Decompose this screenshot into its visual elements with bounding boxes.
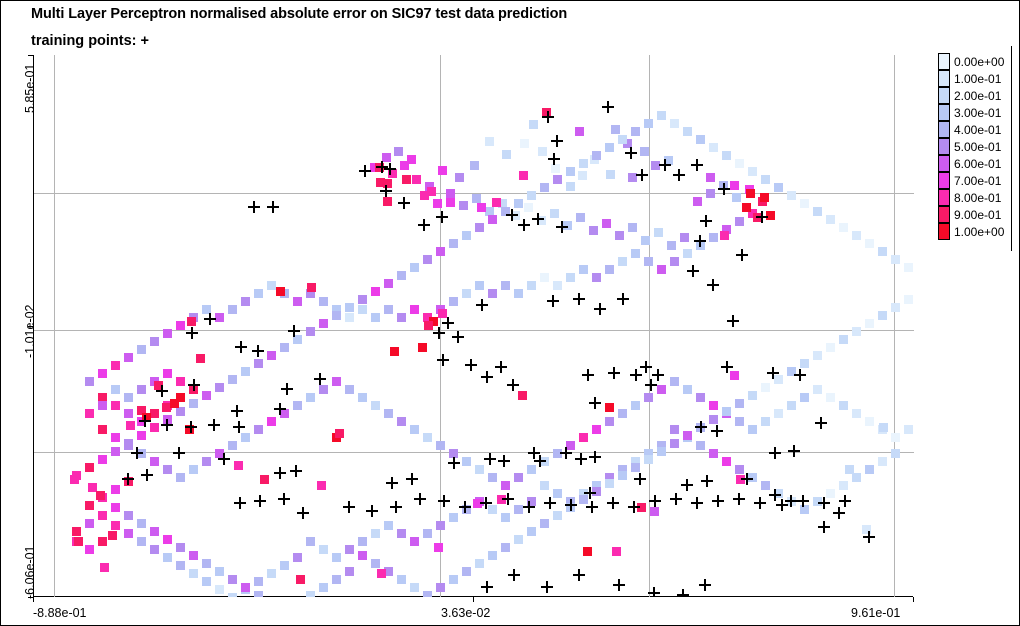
training-point-marker: [248, 201, 260, 213]
data-point-marker: [683, 385, 692, 394]
training-point-marker: [617, 293, 629, 305]
data-point-marker: [98, 401, 107, 410]
data-point-marker: [319, 319, 328, 328]
data-point-marker: [306, 393, 315, 402]
data-point-marker: [202, 559, 211, 568]
data-point-marker: [254, 359, 263, 368]
data-point-marker: [550, 209, 559, 218]
data-point-marker: [384, 305, 393, 314]
training-point-marker: [528, 447, 540, 459]
data-point-marker: [735, 399, 744, 408]
data-point-marker: [418, 343, 427, 352]
data-point-marker: [423, 591, 432, 597]
training-point-marker: [634, 473, 646, 485]
data-point-marker: [85, 377, 94, 386]
data-point-marker: [410, 537, 419, 546]
training-point-marker: [290, 465, 302, 477]
data-point-marker: [670, 439, 679, 448]
data-point-marker: [410, 305, 419, 314]
data-point-marker: [605, 479, 614, 488]
data-point-marker: [650, 507, 659, 516]
data-point-marker: [706, 173, 715, 182]
data-point-marker: [657, 385, 666, 394]
data-point-marker: [424, 321, 433, 330]
data-point-marker: [202, 391, 211, 400]
data-point-marker: [670, 119, 679, 128]
data-point-marker: [514, 535, 523, 544]
legend-label-5: 5.00e-01: [954, 140, 1001, 154]
data-point-marker: [470, 161, 479, 170]
training-point-marker: [707, 279, 719, 291]
training-point-marker: [649, 495, 661, 507]
data-point-marker: [306, 537, 315, 546]
data-point-marker: [527, 281, 536, 290]
data-point-marker: [839, 335, 848, 344]
data-point-marker: [488, 551, 497, 560]
data-point-marker: [276, 287, 285, 296]
data-point-marker: [371, 401, 380, 410]
training-point-marker: [573, 293, 585, 305]
training-point-marker: [594, 303, 606, 315]
data-point-marker: [722, 457, 731, 466]
training-point-marker: [384, 163, 396, 175]
chart-page: Multi Layer Perceptron normalised absolu…: [0, 0, 1020, 626]
data-point-marker: [578, 171, 587, 180]
data-point-marker: [852, 409, 861, 418]
data-point-marker: [709, 401, 718, 410]
data-point-marker: [384, 409, 393, 418]
data-point-marker: [730, 181, 739, 190]
training-point-marker: [733, 493, 745, 505]
training-point-marker: [218, 453, 230, 465]
data-point-marker: [589, 226, 598, 235]
training-point-marker: [366, 505, 378, 517]
data-point-marker: [423, 529, 432, 538]
data-point-marker: [397, 529, 406, 538]
y-axis-label-2: -6.06e-01: [23, 545, 37, 599]
training-point-marker: [691, 497, 703, 509]
data-point-marker: [176, 473, 185, 482]
training-point-marker: [573, 569, 585, 581]
data-point-marker: [436, 583, 445, 592]
training-point-marker: [582, 369, 594, 381]
data-point-marker: [514, 505, 523, 514]
data-point-marker: [358, 537, 367, 546]
data-point-marker: [124, 511, 133, 520]
training-point-marker: [711, 425, 723, 437]
training-point-marker: [508, 569, 520, 581]
data-point-marker: [501, 281, 510, 290]
training-point-marker: [161, 419, 173, 431]
data-point-marker: [459, 201, 468, 210]
training-point-marker: [677, 589, 689, 597]
legend-label-2: 2.00e-01: [954, 89, 1001, 103]
training-point-marker: [481, 371, 493, 383]
data-point-marker: [787, 191, 796, 200]
data-point-marker: [371, 559, 380, 568]
data-point-marker: [488, 289, 497, 298]
data-point-marker: [644, 119, 653, 128]
data-point-marker: [384, 521, 393, 530]
plot-area: [34, 55, 914, 597]
data-point-marker: [514, 289, 523, 298]
training-point-marker: [476, 299, 488, 311]
data-point-marker: [472, 194, 481, 203]
data-point-marker: [241, 433, 250, 442]
training-point-marker: [721, 361, 733, 373]
data-point-marker: [423, 255, 432, 264]
data-point-marker: [865, 319, 874, 328]
legend-swatch-4: [938, 121, 950, 138]
data-point-marker: [436, 521, 445, 530]
data-point-marker: [748, 391, 757, 400]
data-point-marker: [654, 228, 663, 237]
data-point-marker: [163, 329, 172, 338]
data-point-marker: [826, 393, 835, 402]
training-point-marker: [465, 359, 477, 371]
data-point-marker: [384, 279, 393, 288]
data-point-marker: [644, 455, 653, 464]
training-point-marker: [736, 249, 748, 261]
training-point-marker: [613, 579, 625, 591]
training-point-marker: [506, 209, 518, 221]
training-point-marker: [414, 493, 426, 505]
legend-label-6: 6.00e-01: [954, 157, 1001, 171]
data-point-marker: [631, 463, 640, 472]
data-point-marker: [98, 455, 107, 464]
data-point-marker: [436, 441, 445, 450]
training-point-marker: [788, 445, 800, 457]
training-point-marker: [288, 325, 300, 337]
data-point-marker: [640, 147, 649, 156]
data-point-marker: [488, 215, 497, 224]
data-point-marker: [540, 481, 549, 490]
data-point-marker: [839, 223, 848, 232]
gridline-horizontal-2: [34, 452, 914, 453]
data-point-marker: [693, 197, 702, 206]
training-point-marker: [701, 475, 713, 487]
data-point-marker: [592, 151, 601, 160]
legend-swatch-9: [938, 206, 950, 223]
training-point-marker: [267, 201, 279, 213]
training-point-marker: [681, 479, 693, 491]
training-point-marker: [231, 405, 243, 417]
training-point-marker: [185, 421, 197, 433]
training-point-marker: [186, 327, 198, 339]
data-point-marker: [176, 543, 185, 552]
training-point-marker: [380, 185, 392, 197]
data-point-marker: [126, 421, 135, 430]
data-point-marker: [551, 164, 560, 173]
training-point-marker: [700, 215, 712, 227]
legend-label-7: 7.00e-01: [954, 174, 1001, 188]
legend-label-1: 1.00e-01: [954, 72, 1001, 86]
data-point-marker: [538, 147, 547, 156]
training-point-marker: [544, 497, 556, 509]
data-point-marker: [438, 166, 447, 175]
data-point-marker: [579, 265, 588, 274]
training-point-marker: [548, 153, 560, 165]
data-point-marker: [683, 249, 692, 258]
data-point-marker: [377, 569, 386, 578]
data-point-marker: [189, 569, 198, 578]
data-point-marker: [150, 423, 159, 432]
data-point-marker: [735, 159, 744, 168]
data-point-marker: [319, 385, 328, 394]
data-point-marker: [98, 511, 107, 520]
data-point-marker: [254, 289, 263, 298]
training-point-marker: [235, 341, 247, 353]
data-point-marker: [446, 189, 455, 198]
data-point-marker: [540, 519, 549, 528]
x-axis-tick-2: [913, 597, 914, 602]
data-point-marker: [345, 567, 354, 576]
training-point-marker: [602, 101, 614, 113]
data-point-marker: [436, 247, 445, 256]
data-point-marker: [423, 433, 432, 442]
data-point-marker: [433, 199, 442, 208]
data-point-marker: [85, 501, 94, 510]
training-point-marker: [691, 159, 703, 171]
data-point-marker: [267, 417, 276, 426]
chart-title: Multi Layer Perceptron normalised absolu…: [31, 6, 567, 22]
data-point-marker: [878, 311, 887, 320]
training-point-marker: [484, 453, 496, 465]
data-point-marker: [202, 457, 211, 466]
data-point-marker: [891, 449, 900, 458]
training-point-marker: [628, 501, 640, 513]
data-point-marker: [449, 575, 458, 584]
training-point-marker: [418, 219, 430, 231]
data-point-marker: [852, 231, 861, 240]
data-point-marker: [228, 593, 237, 597]
data-point-marker: [631, 127, 640, 136]
data-point-marker: [358, 393, 367, 402]
training-point-marker: [839, 495, 851, 507]
legend-swatch-8: [938, 189, 950, 206]
data-point-marker: [475, 559, 484, 568]
data-point-marker: [540, 273, 549, 282]
data-point-marker: [519, 171, 528, 180]
data-point-marker: [579, 159, 588, 168]
data-point-marker: [529, 120, 538, 129]
legend-label-4: 4.00e-01: [954, 123, 1001, 137]
data-point-marker: [397, 271, 406, 280]
training-point-marker: [652, 369, 664, 381]
x-axis-label-0: -8.88e-01: [33, 606, 87, 620]
data-point-marker: [742, 203, 751, 212]
data-point-marker: [576, 213, 585, 222]
data-point-marker: [813, 351, 822, 360]
data-point-marker: [228, 375, 237, 384]
data-point-marker: [410, 263, 419, 272]
data-point-marker: [475, 223, 484, 232]
legend-swatch-10: [938, 223, 950, 240]
y-axis-tick-0: [28, 55, 33, 56]
legend-swatch-1: [938, 70, 950, 87]
legend-label-8: 8.00e-01: [954, 191, 1001, 205]
data-point-marker: [774, 409, 783, 418]
data-point-marker: [371, 529, 380, 538]
data-point-marker: [520, 139, 529, 148]
data-point-marker: [150, 527, 159, 536]
data-point-marker: [234, 461, 243, 470]
data-point-marker: [553, 175, 562, 184]
data-point-marker: [722, 407, 731, 416]
legend-label-3: 3.00e-01: [954, 106, 1001, 120]
data-point-marker: [462, 567, 471, 576]
data-point-marker: [427, 187, 436, 196]
data-point-marker: [241, 583, 250, 592]
data-point-marker: [390, 347, 399, 356]
data-point-marker: [176, 377, 185, 386]
training-point-marker: [659, 159, 671, 171]
data-point-marker: [111, 503, 120, 512]
training-point-marker: [727, 315, 739, 327]
data-point-marker: [254, 591, 263, 597]
data-point-marker: [800, 359, 809, 368]
data-point-marker: [488, 473, 497, 482]
data-point-marker: [163, 465, 172, 474]
y-axis-label-0: 5.85e-01: [23, 64, 37, 113]
data-point-marker: [760, 193, 769, 202]
data-point-marker: [696, 441, 705, 450]
data-point-marker: [124, 529, 133, 538]
training-point-marker: [712, 495, 724, 507]
training-point-marker: [141, 469, 153, 481]
data-point-marker: [196, 354, 205, 363]
data-point-marker: [709, 415, 718, 424]
data-point-marker: [618, 135, 627, 144]
data-point-marker: [670, 257, 679, 266]
data-point-marker: [345, 303, 354, 312]
data-point-marker: [865, 417, 874, 426]
training-point-marker: [636, 169, 648, 181]
data-point-marker: [280, 561, 289, 570]
training-point-marker: [586, 501, 598, 513]
training-point-marker: [122, 473, 134, 485]
data-point-marker: [176, 561, 185, 570]
data-point-marker: [332, 377, 341, 386]
data-point-marker: [293, 553, 302, 562]
training-point-marker: [234, 497, 246, 509]
data-point-marker: [124, 393, 133, 402]
data-point-marker: [111, 385, 120, 394]
data-point-marker: [904, 263, 913, 272]
training-point-marker: [608, 367, 620, 379]
training-point-marker: [532, 213, 544, 225]
data-point-marker: [644, 257, 653, 266]
data-point-marker: [566, 273, 575, 282]
data-point-marker: [501, 543, 510, 552]
data-point-marker: [293, 297, 302, 306]
data-point-marker: [296, 575, 305, 584]
training-point-marker: [818, 497, 830, 509]
data-point-marker: [845, 465, 854, 474]
data-point-marker: [891, 255, 900, 264]
gridline-vertical-0: [54, 55, 55, 597]
data-point-marker: [518, 391, 527, 400]
data-point-marker: [434, 543, 443, 552]
training-point-marker: [797, 495, 809, 507]
training-point-marker: [560, 447, 572, 459]
legend-swatch-5: [938, 138, 950, 155]
data-point-marker: [641, 236, 650, 245]
data-point-marker: [319, 583, 328, 592]
data-point-marker: [402, 175, 411, 184]
data-point-marker: [85, 519, 94, 528]
training-point-marker: [448, 457, 460, 469]
data-point-marker: [74, 537, 83, 546]
data-point-marker: [618, 409, 627, 418]
data-point-marker: [566, 167, 575, 176]
data-point-marker: [189, 551, 198, 560]
data-point-marker: [618, 471, 627, 480]
data-point-marker: [800, 393, 809, 402]
data-point-marker: [335, 429, 344, 438]
training-point-marker: [625, 147, 637, 159]
data-point-marker: [306, 327, 315, 336]
data-point-marker: [553, 281, 562, 290]
training-point-marker: [139, 415, 151, 427]
training-point-marker: [694, 235, 706, 247]
data-point-marker: [904, 425, 913, 434]
data-point-marker: [618, 257, 627, 266]
data-point-marker: [501, 481, 510, 490]
gridline-vertical-3: [894, 55, 895, 597]
training-point-marker: [386, 477, 398, 489]
training-point-marker: [769, 447, 781, 459]
data-point-marker: [615, 231, 624, 240]
data-point-marker: [462, 231, 471, 240]
training-point-marker: [359, 165, 371, 177]
x-axis-label-1: 3.63e-02: [441, 606, 490, 620]
data-point-marker: [553, 511, 562, 520]
training-point-marker: [695, 421, 707, 433]
legend-swatch-2: [938, 87, 950, 104]
legend-divider: [1011, 46, 1012, 251]
training-point-marker: [297, 507, 309, 519]
data-point-marker: [631, 401, 640, 410]
data-point-marker: [475, 281, 484, 290]
data-point-marker: [150, 409, 159, 418]
data-point-marker: [657, 447, 666, 456]
data-point-marker: [137, 345, 146, 354]
training-point-marker: [523, 501, 535, 513]
data-point-marker: [722, 151, 731, 160]
data-point-marker: [612, 547, 621, 556]
training-point-marker: [480, 497, 492, 509]
data-point-marker: [176, 407, 185, 416]
training-point-marker: [648, 587, 660, 597]
data-point-marker: [826, 215, 835, 224]
data-point-marker: [215, 567, 224, 576]
data-point-marker: [761, 175, 770, 184]
data-point-marker: [150, 545, 159, 554]
training-point-marker: [756, 211, 768, 223]
data-point-marker: [358, 551, 367, 560]
data-point-marker: [566, 182, 575, 191]
data-point-marker: [680, 233, 689, 242]
training-point-marker: [131, 447, 143, 459]
data-point-marker: [307, 283, 316, 292]
data-point-marker: [189, 399, 198, 408]
data-point-marker: [839, 401, 848, 410]
data-point-marker: [524, 203, 533, 212]
data-point-marker: [358, 305, 367, 314]
training-point-marker: [156, 385, 168, 397]
data-point-marker: [602, 219, 611, 228]
